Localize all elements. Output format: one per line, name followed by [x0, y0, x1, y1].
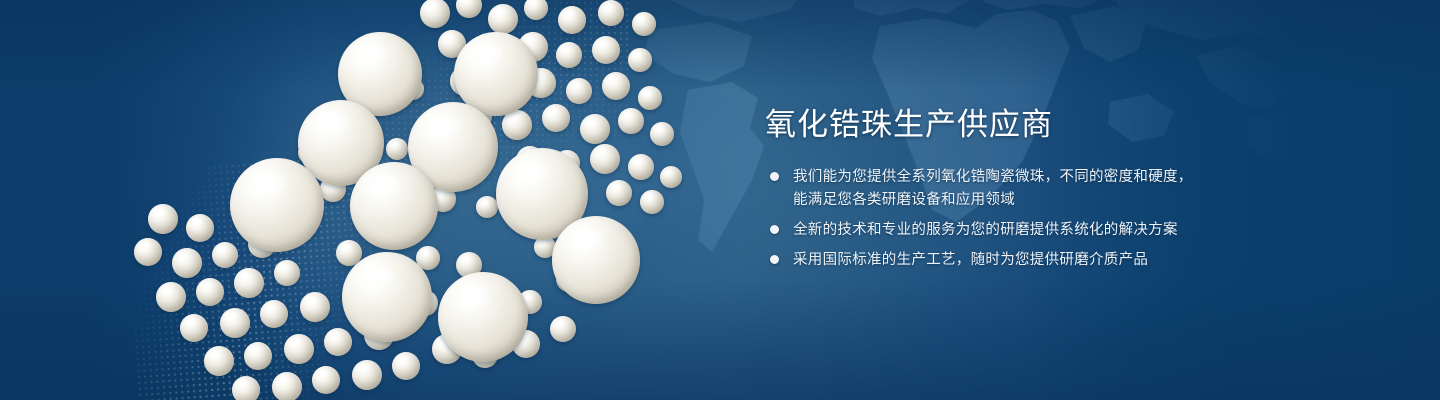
- bullet-dot-icon: [770, 172, 779, 181]
- list-item-line1: 全新的技术和专业的服务为您的研磨提供系统化的解决方案: [793, 222, 1178, 238]
- banner-copy: 氧化锆珠生产供应商 我们能为您提供全系列氧化锆陶瓷微珠，不同的密度和硬度， 能满…: [765, 105, 1225, 279]
- list-item-line1: 我们能为您提供全系列氧化锆陶瓷微珠，不同的密度和硬度，: [793, 169, 1193, 185]
- zirconia-beads-photo: [120, 0, 760, 400]
- list-item: 采用国际标准的生产工艺，随时为您提供研磨介质产品: [765, 249, 1225, 272]
- list-item-line1: 采用国际标准的生产工艺，随时为您提供研磨介质产品: [793, 252, 1148, 268]
- hero-banner: 氧化锆珠生产供应商 我们能为您提供全系列氧化锆陶瓷微珠，不同的密度和硬度， 能满…: [0, 0, 1440, 400]
- list-item-text: 采用国际标准的生产工艺，随时为您提供研磨介质产品: [793, 249, 1148, 272]
- list-item: 全新的技术和专业的服务为您的研磨提供系统化的解决方案: [765, 219, 1225, 242]
- feature-list: 我们能为您提供全系列氧化锆陶瓷微珠，不同的密度和硬度， 能满足您各类研磨设备和应…: [765, 166, 1225, 272]
- bullet-dot-icon: [770, 225, 779, 234]
- list-item-line2: 能满足您各类研磨设备和应用领域: [793, 189, 1193, 212]
- list-item-text: 全新的技术和专业的服务为您的研磨提供系统化的解决方案: [793, 219, 1178, 242]
- list-item-text: 我们能为您提供全系列氧化锆陶瓷微珠，不同的密度和硬度， 能满足您各类研磨设备和应…: [793, 166, 1193, 212]
- list-item: 我们能为您提供全系列氧化锆陶瓷微珠，不同的密度和硬度， 能满足您各类研磨设备和应…: [765, 166, 1225, 212]
- page-title: 氧化锆珠生产供应商: [765, 105, 1225, 145]
- bullet-dot-icon: [770, 255, 779, 264]
